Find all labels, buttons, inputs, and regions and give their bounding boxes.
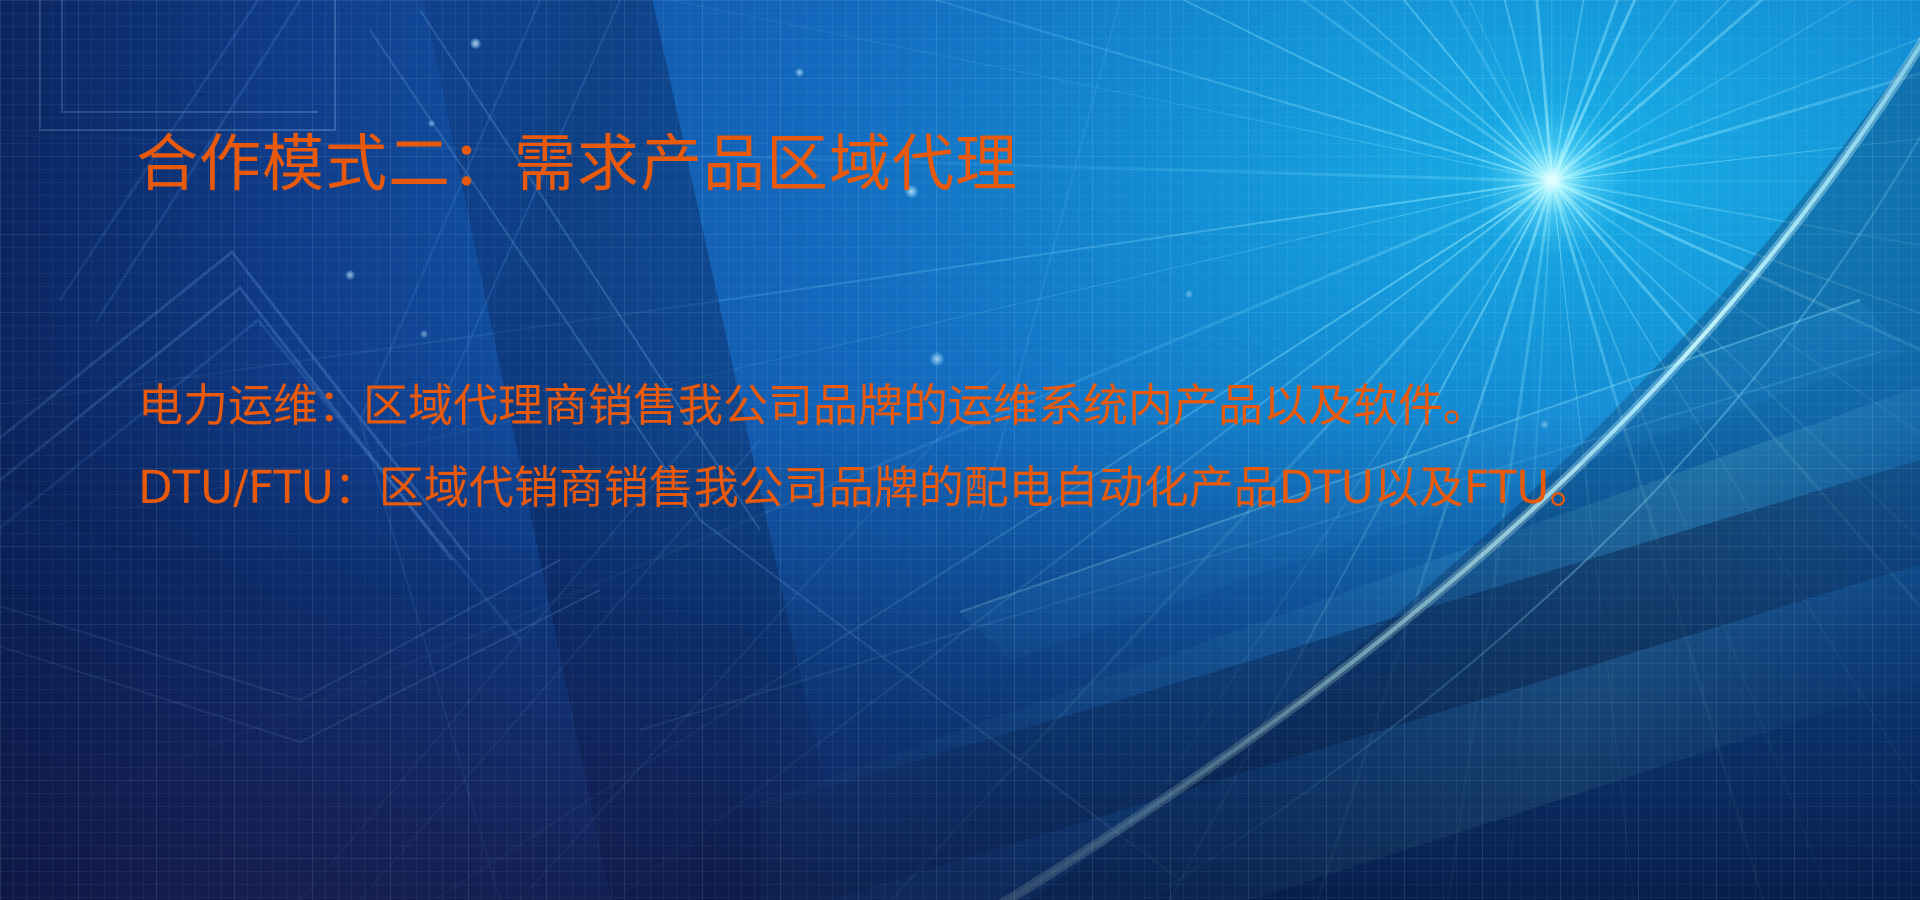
body-line-power-ops: 电力运维：区域代理商销售我公司品牌的运维系统内产品以及软件。 xyxy=(138,365,1858,447)
slide-text-layer: 合作模式二：需求产品区域代理 电力运维：区域代理商销售我公司品牌的运维系统内产品… xyxy=(0,0,1920,900)
slide-canvas: 合作模式二：需求产品区域代理 电力运维：区域代理商销售我公司品牌的运维系统内产品… xyxy=(0,0,1920,900)
slide-title: 合作模式二：需求产品区域代理 xyxy=(136,131,1018,198)
slide-body: 电力运维：区域代理商销售我公司品牌的运维系统内产品以及软件。 DTU/FTU：区… xyxy=(138,365,1858,529)
body-line-dtu-ftu: DTU/FTU：区域代销商销售我公司品牌的配电自动化产品DTU以及FTU。 xyxy=(138,447,1858,529)
